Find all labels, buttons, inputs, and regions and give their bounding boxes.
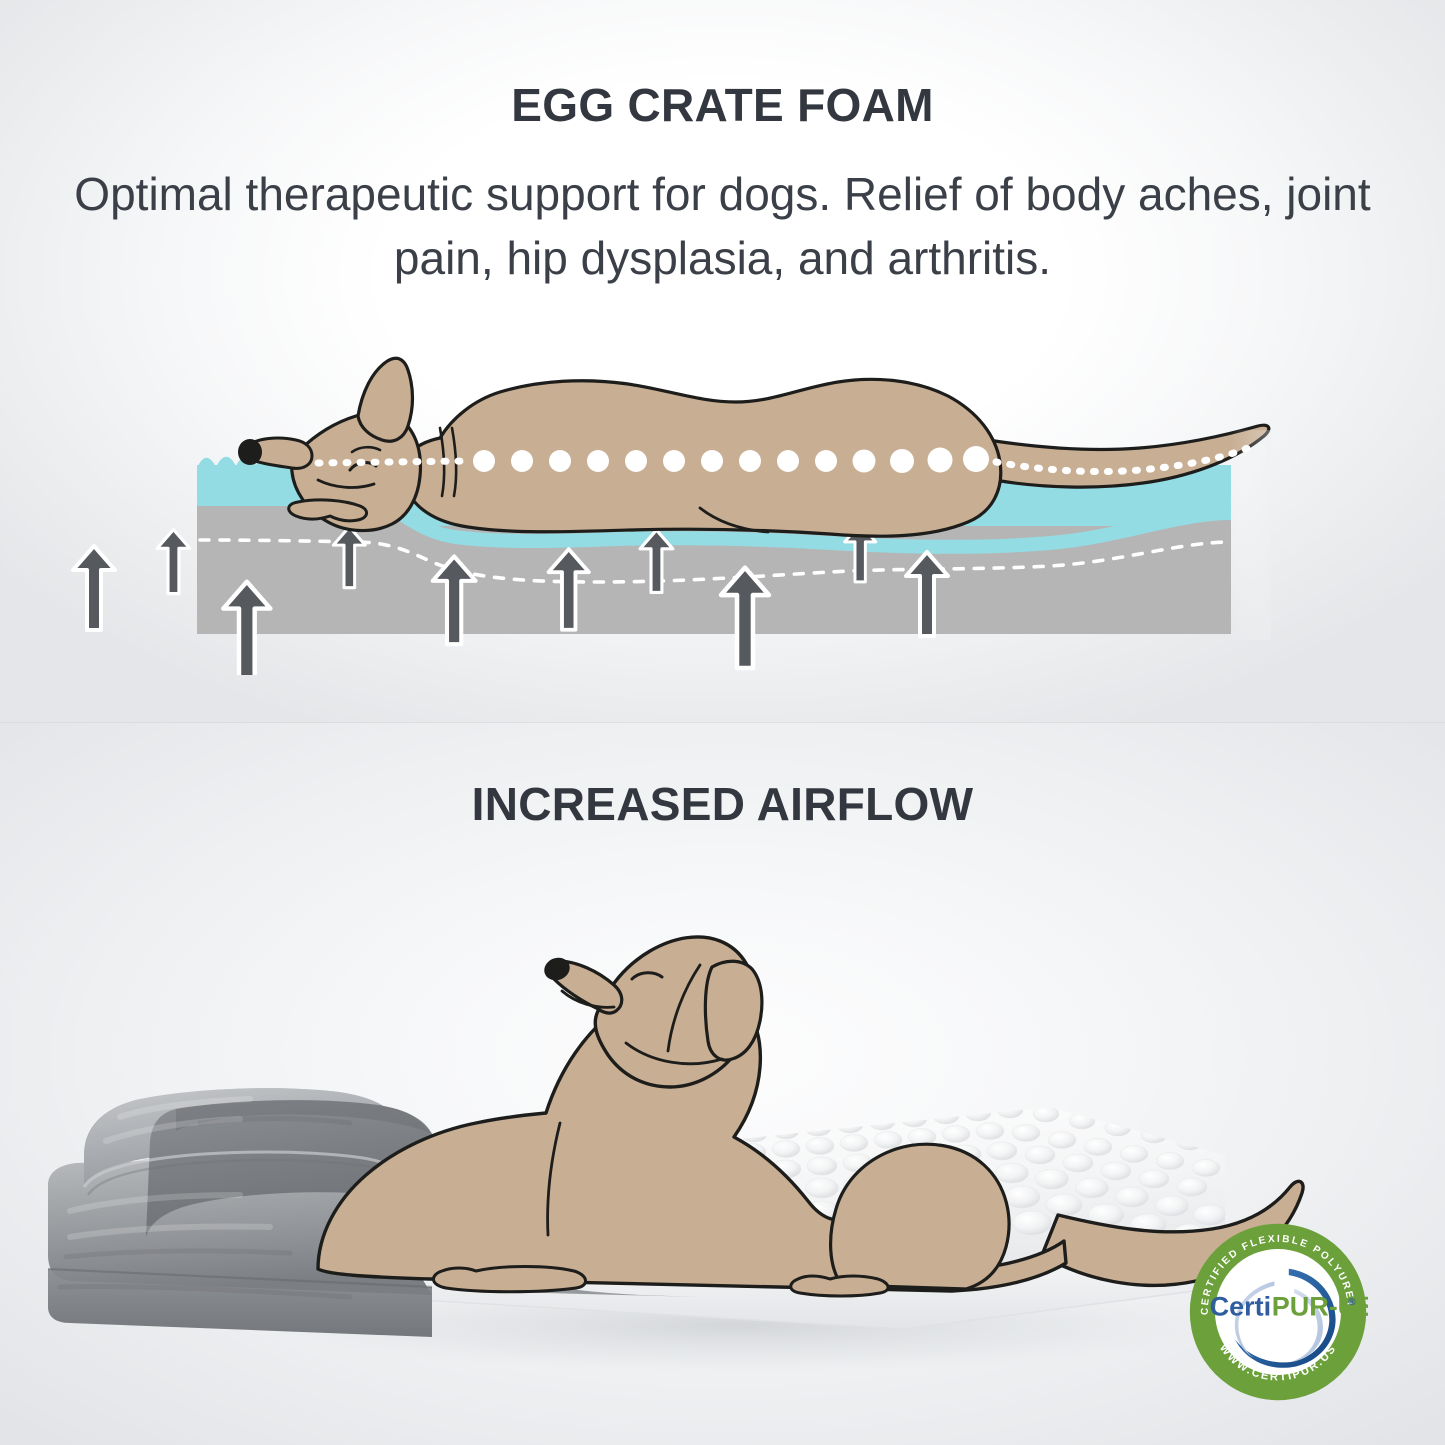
page-title-increased-airflow: INCREASED AIRFLOW [0, 777, 1445, 831]
logo-wordmark: Certi PUR-US ® [1210, 1292, 1368, 1322]
page-title-egg-crate-foam: EGG CRATE FOAM [0, 78, 1445, 132]
support-arrow [73, 546, 115, 630]
support-arrow [157, 530, 190, 594]
logo-registered-mark: ® [1348, 1297, 1356, 1308]
subtitle-description: Optimal therapeutic support for dogs. Re… [50, 162, 1395, 290]
logo-brand-prefix: Certi [1210, 1292, 1272, 1322]
certipur-us-logo: CONTAINS CERTIFIED FLEXIBLE POLYURETHANE… [1188, 1222, 1368, 1402]
panel-divider [0, 722, 1445, 723]
dog-illustration-sitting [318, 937, 1303, 1296]
dog-on-foam-cross-section-illustration [0, 330, 1445, 675]
infographic-root: EGG CRATE FOAM Optimal therapeutic suppo… [0, 0, 1445, 1445]
